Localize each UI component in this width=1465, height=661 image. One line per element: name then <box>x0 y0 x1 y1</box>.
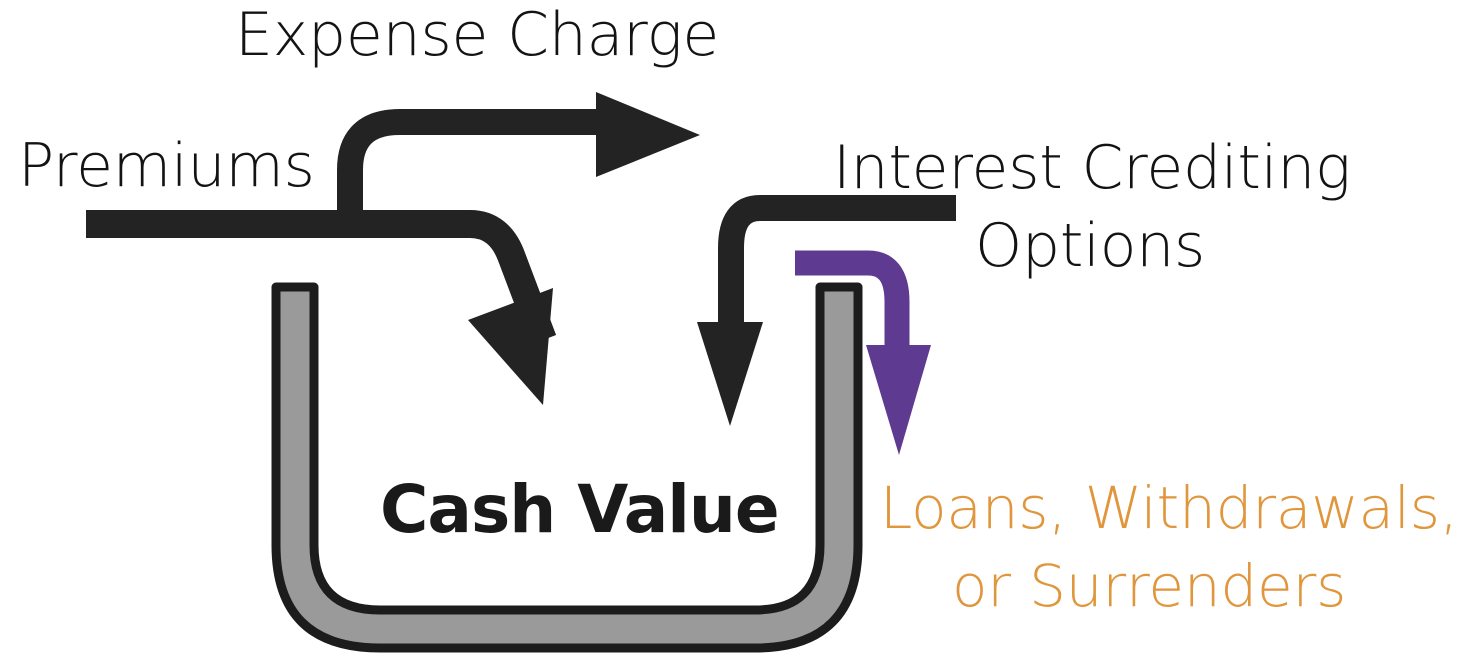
interest-crediting-label-line2: Options <box>975 211 1205 281</box>
premiums-label: Premiums <box>18 131 315 201</box>
bucket-shape <box>276 287 858 648</box>
cash-value-bucket <box>276 287 858 648</box>
expense-charge-label: Expense Charge <box>235 0 719 70</box>
premium-arrowhead <box>468 288 553 405</box>
interest-crediting-label-line1: Interest Crediting <box>833 133 1351 203</box>
loans-label-line2: or Surrenders <box>952 552 1346 620</box>
expense-charge-arrowhead <box>596 92 700 177</box>
loans-outflow-arrowhead <box>866 345 931 455</box>
loans-label-line1: Loans, Withdrawals, <box>880 474 1458 542</box>
premium-inflow-arrow <box>86 224 553 405</box>
interest-crediting-arrowhead <box>697 322 763 426</box>
cash-value-label: Cash Value <box>380 471 779 548</box>
flow-diagram: Expense Charge Premiums Interest Crediti… <box>0 0 1465 661</box>
loans-outflow-arrow <box>795 263 931 455</box>
diagram-root: Expense Charge Premiums Interest Crediti… <box>0 0 1465 661</box>
